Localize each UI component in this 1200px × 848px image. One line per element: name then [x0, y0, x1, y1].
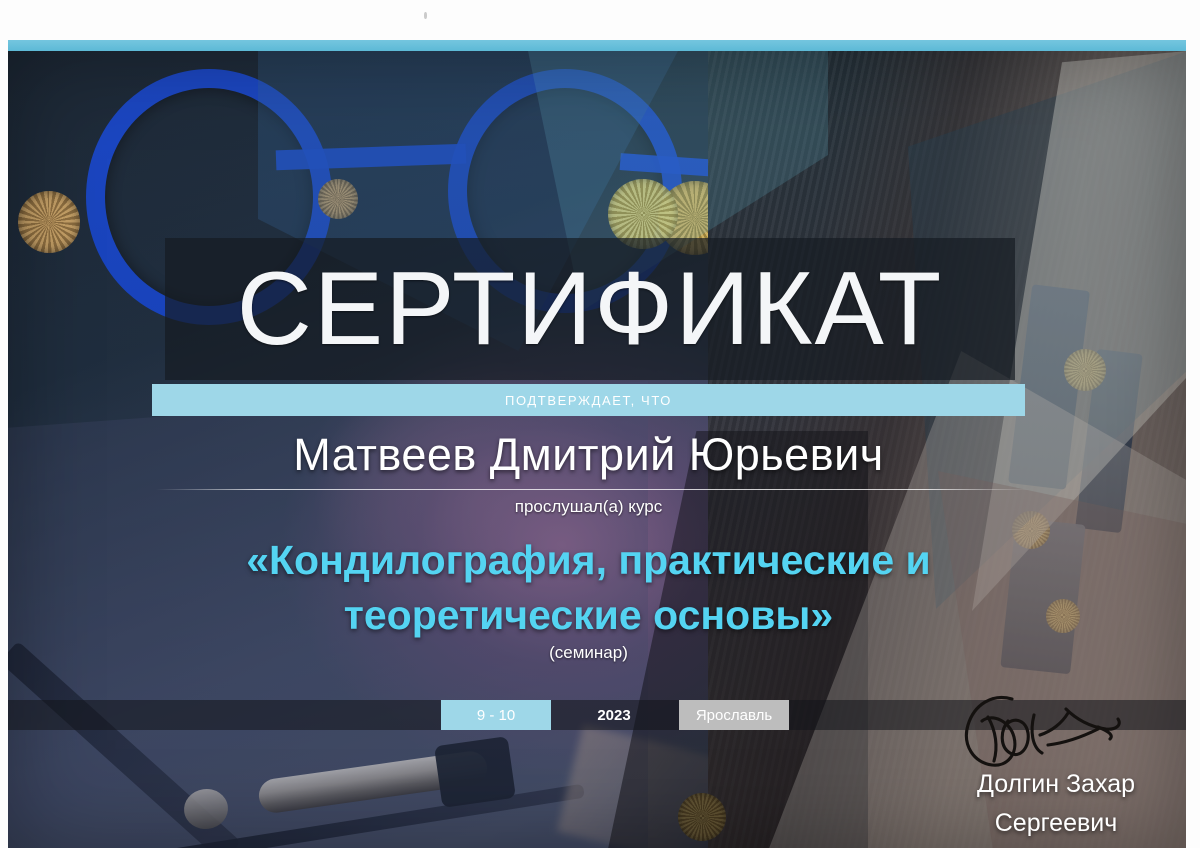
date-days-chip: 9 - 10 [441, 700, 551, 730]
signature-block: Долгин Захар Сергеевич [938, 687, 1186, 847]
adjustment-knob-1 [18, 191, 80, 253]
adjustment-knob-2 [318, 179, 358, 219]
city-chip: Ярославль [679, 700, 789, 730]
rod-clamp-1 [434, 736, 516, 808]
course-title-line-2: теоретические основы» [112, 588, 1065, 643]
scan-speck [424, 12, 427, 19]
signatory-line-2: Сергеевич [928, 804, 1184, 843]
date-year-chip: 2023 [566, 700, 662, 730]
scanned-page: СЕРТИФИКАТ ПОДТВЕРЖДАЕТ, ЧТО Матвеев Дми… [0, 0, 1200, 848]
course-title: «Кондилография, практические и теоретиче… [112, 533, 1065, 643]
certificate-card: СЕРТИФИКАТ ПОДТВЕРЖДАЕТ, ЧТО Матвеев Дми… [8, 51, 1186, 848]
recipient-name: Матвеев Дмитрий Юрьевич [152, 429, 1025, 481]
certificate-title: СЕРТИФИКАТ [165, 237, 1015, 381]
format-label: (семинар) [152, 643, 1025, 663]
signatory-line-1: Долгин Захар [928, 765, 1184, 804]
lens-disc-1 [1064, 349, 1106, 391]
course-title-line-1: «Кондилография, практические и [246, 537, 931, 583]
signatory-name: Долгин Захар Сергеевич [928, 765, 1184, 843]
attended-label: прослушал(а) курс [152, 497, 1025, 517]
date-location-row: 9 - 10 2023 Ярославль [441, 700, 801, 730]
confirms-label: ПОДТВЕРЖДАЕТ, ЧТО [152, 384, 1025, 416]
handwritten-signature-icon [948, 687, 1148, 777]
lens-disc-4 [678, 793, 726, 841]
recipient-underline [156, 489, 1030, 490]
